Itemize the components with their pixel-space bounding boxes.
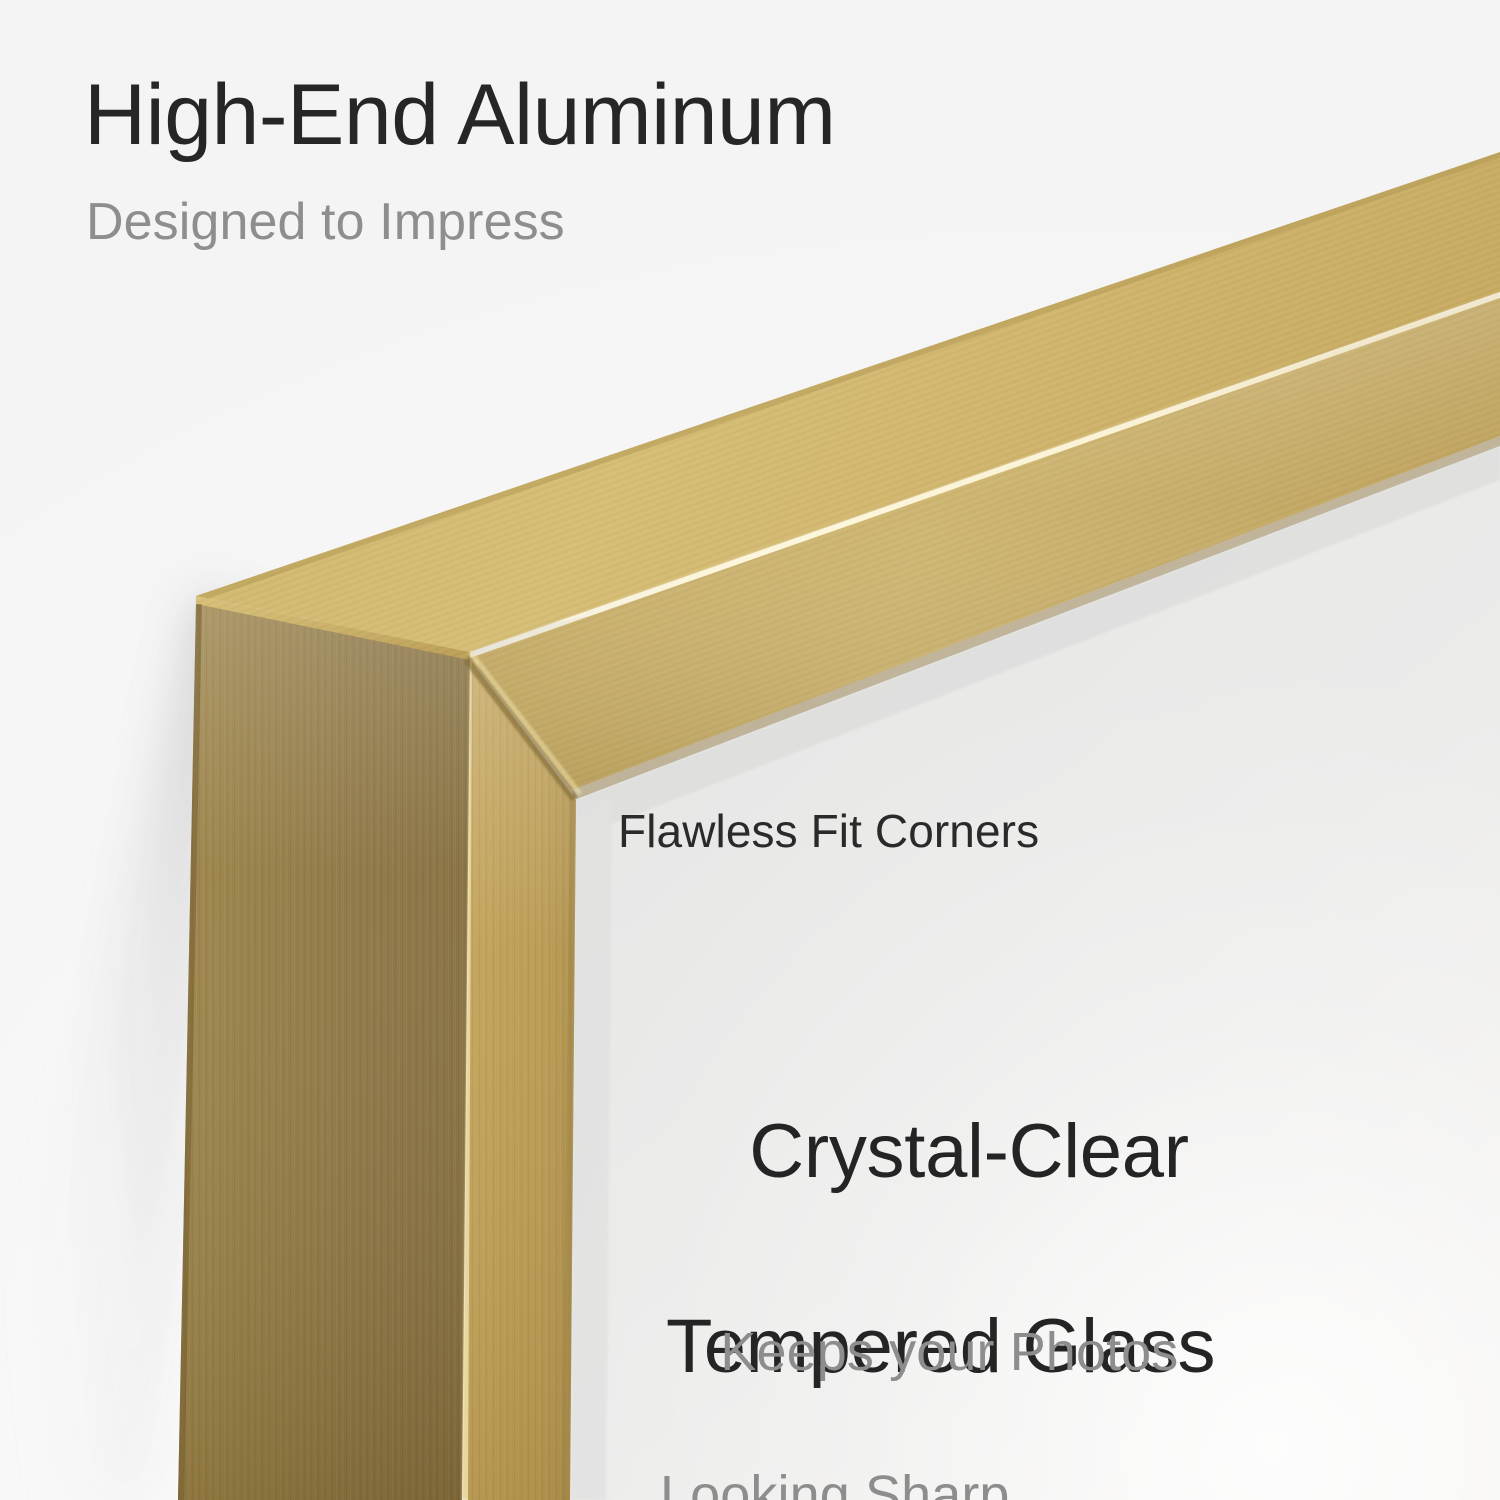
product-feature-image: High-End Aluminum Designed to Impress Fl…: [0, 0, 1500, 1500]
feature-title-line-1: Crystal-Clear: [749, 1109, 1188, 1194]
frame-left-stile: [178, 604, 576, 1500]
feature-subtitle-line-1: Keeps your Photos: [720, 1322, 1178, 1382]
feature-subtitle-line-2: Looking Sharp: [660, 1460, 1178, 1500]
page-title: High-End Aluminum: [84, 72, 836, 158]
page-subtitle: Designed to Impress: [86, 196, 565, 248]
callout-flawless-fit-corners: Flawless Fit Corners: [618, 808, 1039, 854]
feature-subtitle: Keeps your Photos Looking Sharp: [660, 1246, 1178, 1500]
